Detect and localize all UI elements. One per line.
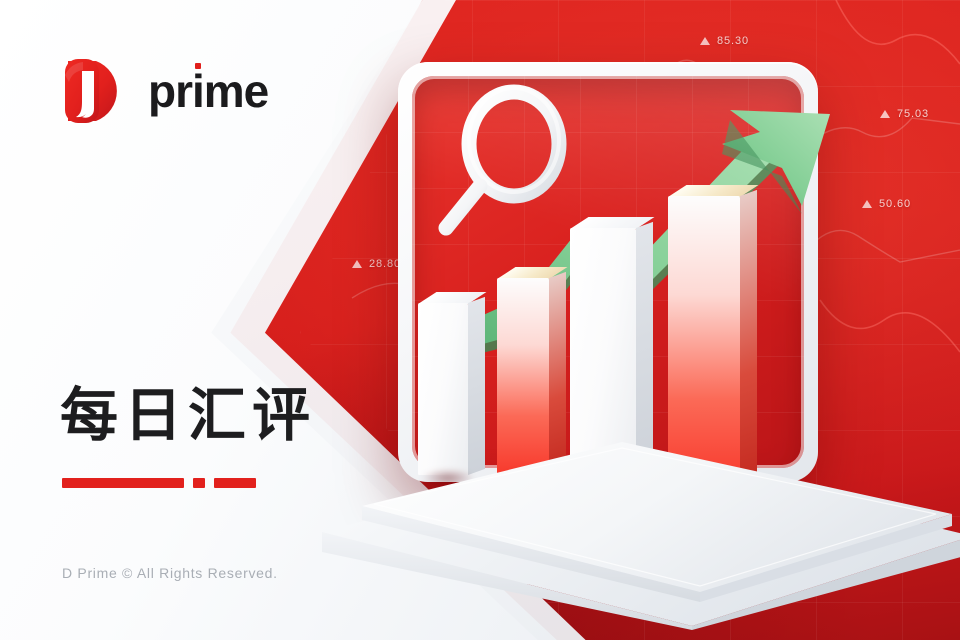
ticker-annotation: 50.60 [862,198,911,210]
rule-segment-short [214,478,256,488]
rule-segment-long [62,478,184,488]
ticker-annotation: 85.30 [700,35,749,47]
triangle-up-icon [700,37,710,45]
daily-review-banner: 28.80 85.30 75.03 50.60 [0,0,960,640]
triangle-up-icon [880,110,890,118]
bar-front-face [570,228,636,475]
ticker-annotation: 75.03 [880,108,929,120]
wordmark-pre: pr [148,65,192,117]
rule-segment-dot [193,478,205,488]
page-title: 每日汇评 [60,386,316,444]
triangle-up-icon [352,260,362,268]
ticker-annotation: 28.80 [352,258,401,270]
copyright-text: D Prime © All Rights Reserved. [62,565,278,581]
title-underline-rule [62,478,256,488]
triangle-up-icon [862,200,872,208]
chart-bar [570,228,636,475]
bar-side-face [636,222,653,475]
ticker-value: 28.80 [369,258,401,270]
ticker-value: 75.03 [897,108,929,120]
wordmark-post: me [204,65,268,117]
brand-wordmark: prime [148,68,268,114]
brand-logo[interactable]: prime [62,55,268,127]
chart-platform-base [292,440,960,630]
wordmark-dotted-i: i [192,65,204,117]
d-prime-logo-icon [62,55,134,127]
ticker-value: 85.30 [717,35,749,47]
ticker-value: 50.60 [879,198,911,210]
